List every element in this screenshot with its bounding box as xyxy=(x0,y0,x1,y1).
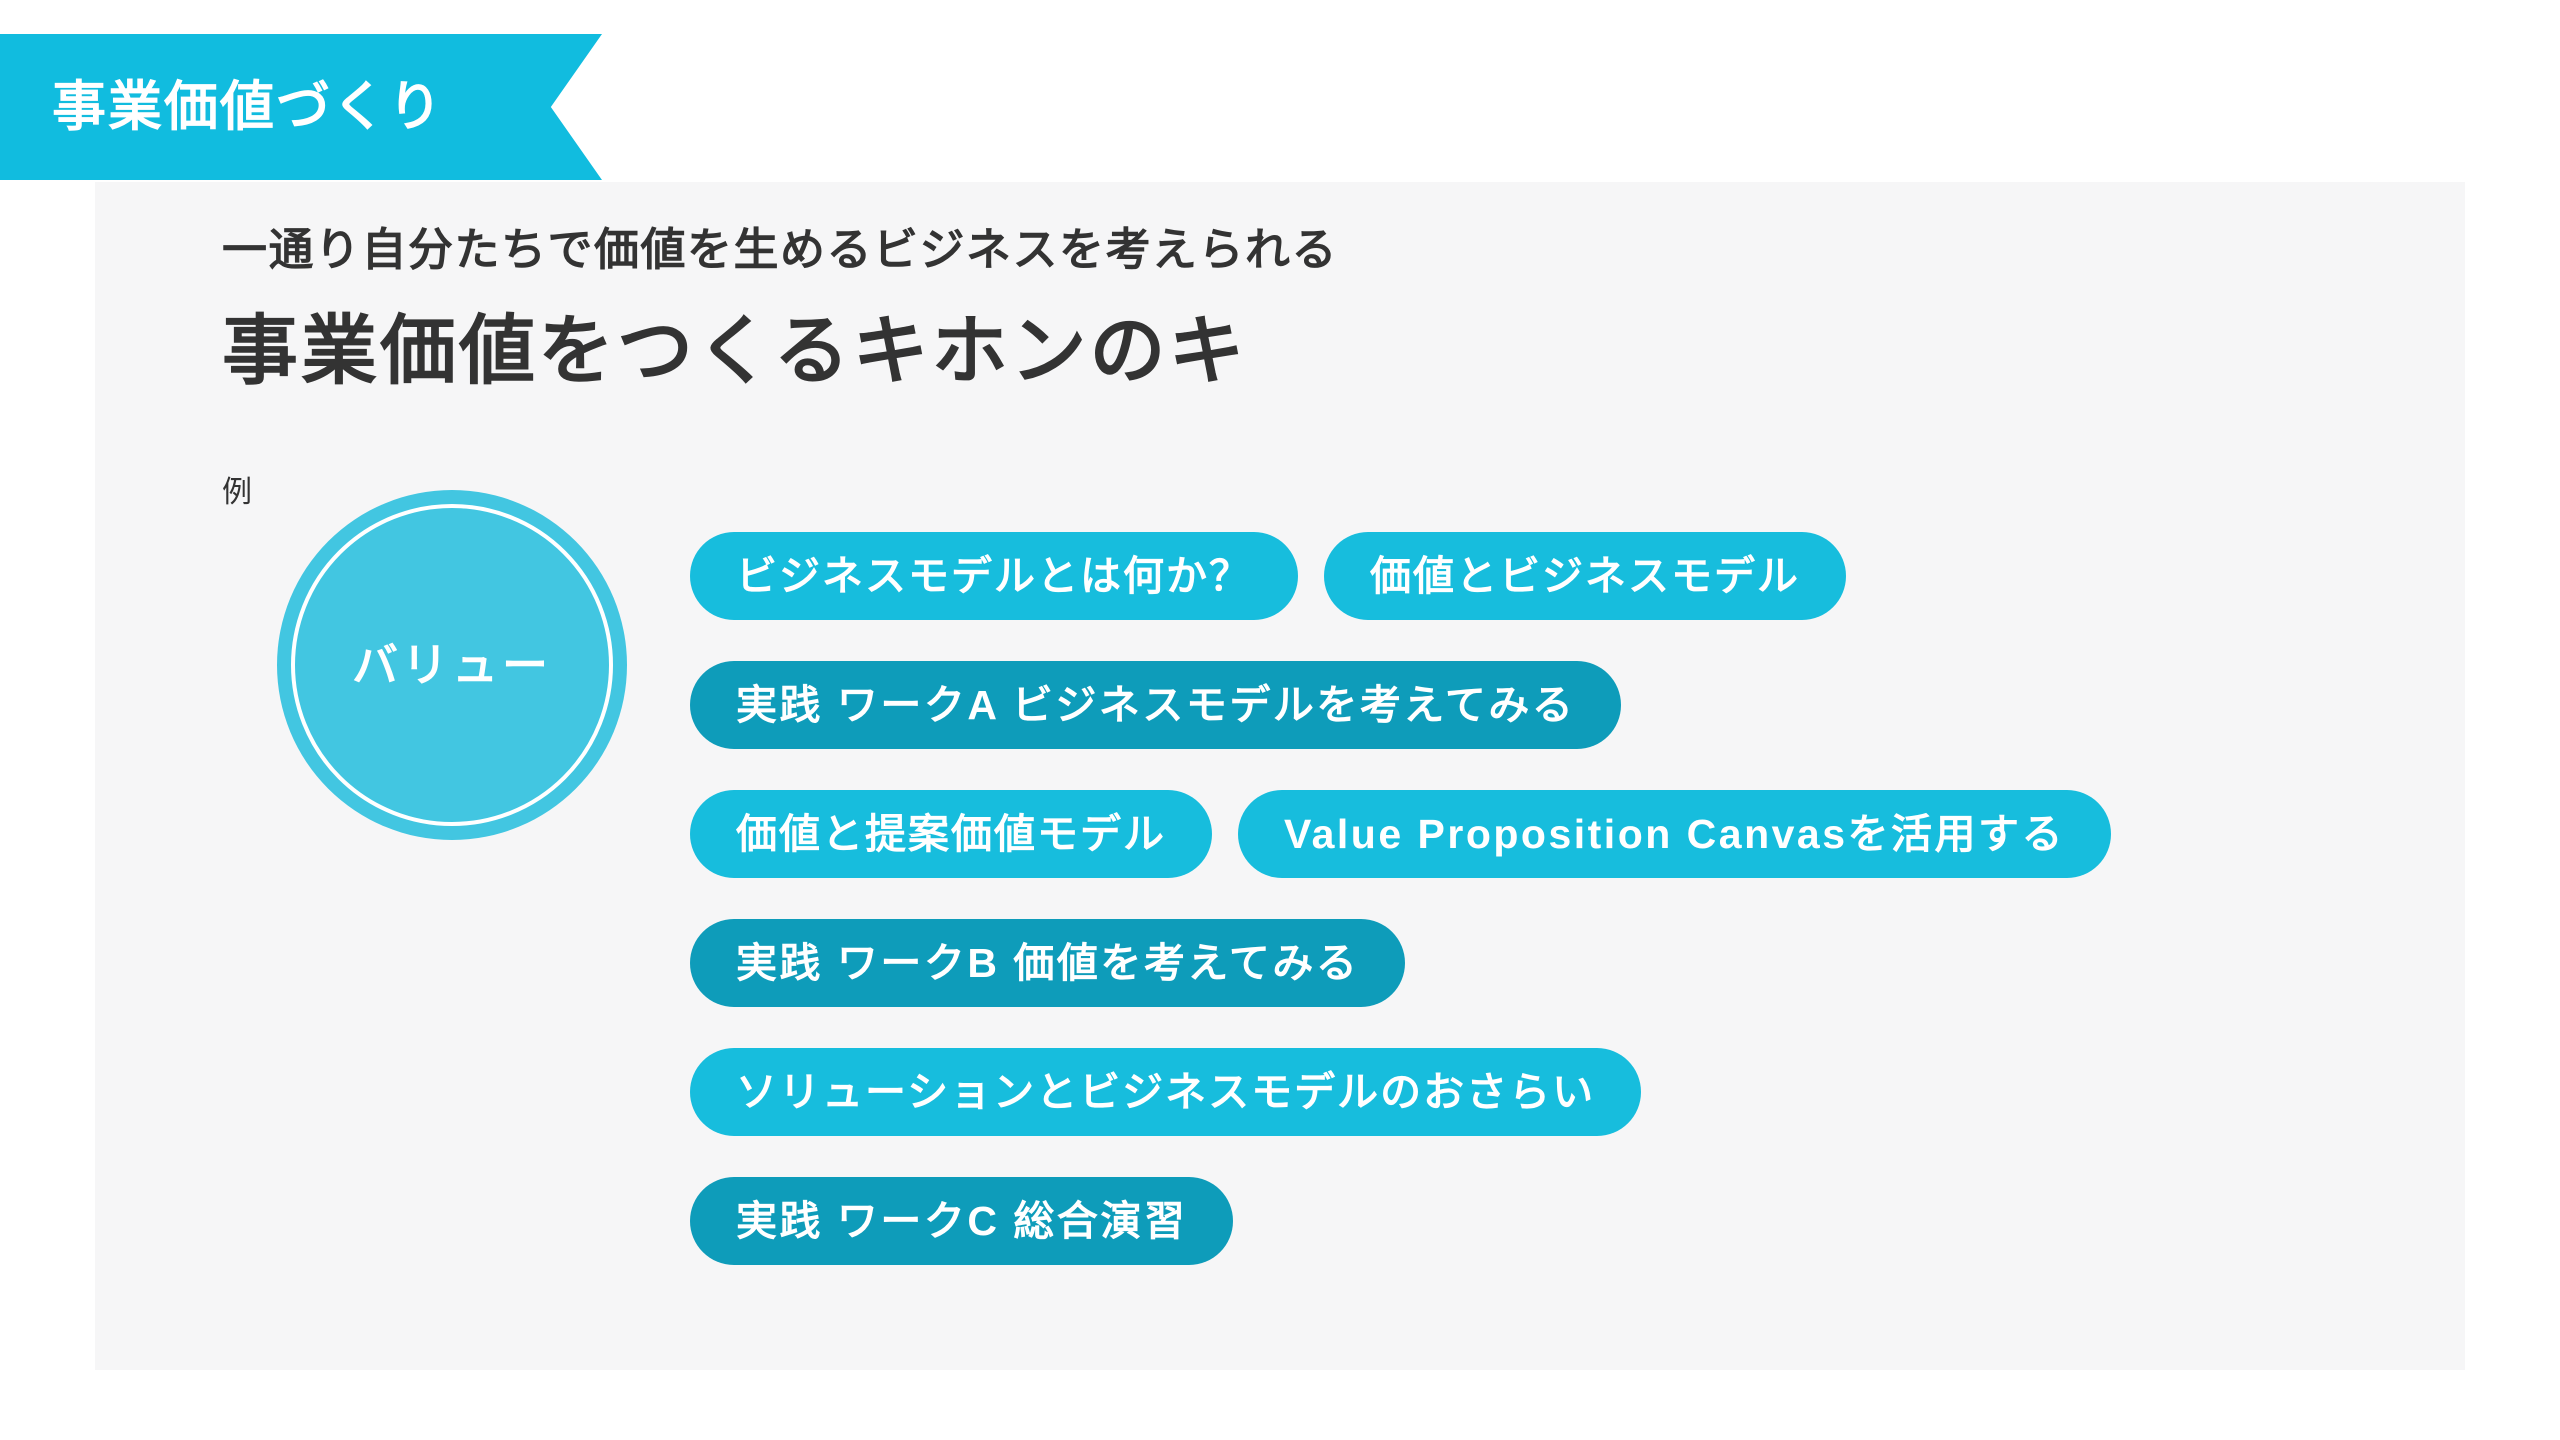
topic-pill[interactable]: 価値と提案価値モデル xyxy=(690,790,1212,878)
topic-pill[interactable]: 実践 ワークB 価値を考えてみる xyxy=(690,919,1405,1007)
ribbon-label: 事業価値づくり xyxy=(52,80,444,134)
curriculum-row: 価値と提案価値モデルValue Proposition Canvasを活用する xyxy=(690,780,2490,888)
topic-pill[interactable]: Value Proposition Canvasを活用する xyxy=(1238,790,2111,878)
value-circle: バリュー xyxy=(277,490,627,840)
slide-subtitle: 一通り自分たちで価値を生めるビジネスを考えられる xyxy=(222,222,1338,278)
example-label: 例 xyxy=(222,478,252,508)
value-circle-label: バリュー xyxy=(352,642,552,688)
curriculum-row: ソリューションとビジネスモデルのおさらい xyxy=(690,1038,2490,1146)
curriculum-row: 実践 ワークC 総合演習 xyxy=(690,1167,2490,1275)
slide-root: 事業価値づくり 一通り自分たちで価値を生めるビジネスを考えられる 事業価値をつく… xyxy=(0,0,2560,1440)
topic-pill[interactable]: 実践 ワークC 総合演習 xyxy=(690,1177,1233,1265)
topic-pill[interactable]: ソリューションとビジネスモデルのおさらい xyxy=(690,1048,1641,1136)
page-title: 事業価値をつくるキホンのキ xyxy=(222,306,1247,397)
topic-pill[interactable]: 価値とビジネスモデル xyxy=(1324,532,1846,620)
curriculum-row: ビジネスモデルとは何か？価値とビジネスモデル xyxy=(690,522,2490,630)
topic-pill[interactable]: ビジネスモデルとは何か？ xyxy=(690,532,1298,620)
curriculum-row: 実践 ワークA ビジネスモデルを考えてみる xyxy=(690,651,2490,759)
topic-pill[interactable]: 実践 ワークA ビジネスモデルを考えてみる xyxy=(690,661,1621,749)
section-ribbon: 事業価値づくり xyxy=(0,34,602,180)
curriculum-rows: ビジネスモデルとは何か？価値とビジネスモデル実践 ワークA ビジネスモデルを考え… xyxy=(690,522,2490,1296)
curriculum-row: 実践 ワークB 価値を考えてみる xyxy=(690,909,2490,1017)
